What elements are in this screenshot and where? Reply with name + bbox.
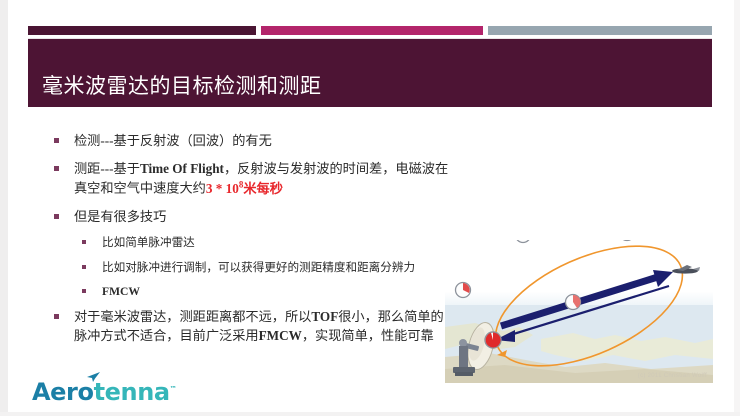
sub-bullet-text: FMCW xyxy=(102,285,140,298)
conclusion-part3: ，实现简单，性能可靠 xyxy=(302,328,434,343)
page-title: 毫米波雷达的目标检测和测距 xyxy=(42,70,322,100)
bullet-item-detection: 检测---基于反射波（回波）的有无 xyxy=(52,132,452,151)
accent-bar-maroon xyxy=(28,26,256,35)
bullet-item-ranging: 测距---基于Time Of Flight，反射波与发射波的时间差，电磁波在真空… xyxy=(52,160,452,199)
conclusion-tof-term: TOF xyxy=(311,309,338,324)
bullet-marker-icon xyxy=(54,314,59,319)
title-banner: 毫米波雷达的目标检测和测距 xyxy=(28,38,712,107)
conclusion-part1: 对于毫米波雷达，测距距离都不远，所以 xyxy=(74,309,311,324)
stopwatch-icon xyxy=(485,332,501,348)
bullet-text: 检测---基于反射波（回波）的有无 xyxy=(74,133,272,148)
paper-plane-icon xyxy=(87,372,101,382)
aircraft-icon xyxy=(672,265,700,274)
bullet-marker-icon xyxy=(82,240,86,244)
receive-arrow-icon xyxy=(495,286,669,342)
bullet-marker-icon xyxy=(82,265,86,269)
stopwatch-icon xyxy=(456,283,471,298)
transmit-arrow-icon xyxy=(501,270,673,326)
bullet-text: 但是有很多技巧 xyxy=(74,209,166,224)
slide-right-edge xyxy=(734,0,740,416)
sub-bullet-pulse-radar: 比如简单脉冲雷达 xyxy=(78,235,452,251)
accent-bar-gray xyxy=(488,26,712,35)
sub-bullet-pulse-modulation: 比如对脉冲进行调制，可以获得更好的测距精度和距离分辨力 xyxy=(78,260,452,276)
bullet-marker-icon xyxy=(54,214,59,219)
logo-text-part2: tenna xyxy=(94,378,170,406)
bullet-text-prefix: 测距---基于 xyxy=(74,161,140,176)
bullet-marker-icon xyxy=(54,166,59,171)
sub-bullet-list: 比如简单脉冲雷达 比如对脉冲进行调制，可以获得更好的测距精度和距离分辨力 FMC… xyxy=(52,235,452,300)
stopwatch-icon xyxy=(566,295,581,310)
sub-bullet-text: 比如简单脉冲雷达 xyxy=(102,236,195,249)
radar-tof-figure: (c) 2011 Christian Wolff xyxy=(445,240,713,383)
figure-watermark: (c) 2011 Christian Wolff xyxy=(638,373,707,379)
sub-bullet-fmcw: FMCW xyxy=(78,284,452,300)
sub-bullet-text: 比如对脉冲进行调制，可以获得更好的测距精度和距离分辨力 xyxy=(102,261,415,274)
formula-unit: 米每秒 xyxy=(243,181,283,196)
figure-vector-overlay xyxy=(445,240,713,383)
bullet-item-conclusion: 对于毫米波雷达，测距距离都不远，所以TOF很小，那么简单的脉冲方式不适合，目前广… xyxy=(52,308,452,345)
speed-of-light-formula: 3 * 108米每秒 xyxy=(206,181,283,196)
aerotenna-logo: Aerotenna™ xyxy=(32,376,176,402)
bullet-item-techniques: 但是有很多技巧 xyxy=(52,208,452,227)
conclusion-fmcw-term: FMCW xyxy=(259,328,302,343)
slide-left-edge xyxy=(0,0,8,416)
header-accent-bars xyxy=(0,26,740,35)
accent-bar-pink xyxy=(261,26,483,35)
bullet-marker-icon xyxy=(54,138,59,143)
formula-base: 3 * 10 xyxy=(206,181,239,196)
stopwatch-icon xyxy=(516,240,531,243)
logo-trademark: ™ xyxy=(170,385,177,393)
bullet-marker-icon xyxy=(82,289,86,293)
slide-canvas: 毫米波雷达的目标检测和测距 检测---基于反射波（回波）的有无 测距---基于T… xyxy=(0,0,740,416)
bullet-text-tof-term: Time Of Flight xyxy=(140,161,224,176)
body-content: 检测---基于反射波（回波）的有无 测距---基于Time Of Flight，… xyxy=(52,132,452,354)
logo-text-part1: Aero xyxy=(32,378,94,406)
slide-bottom-edge xyxy=(0,412,740,416)
stopwatch-icon xyxy=(620,240,635,241)
